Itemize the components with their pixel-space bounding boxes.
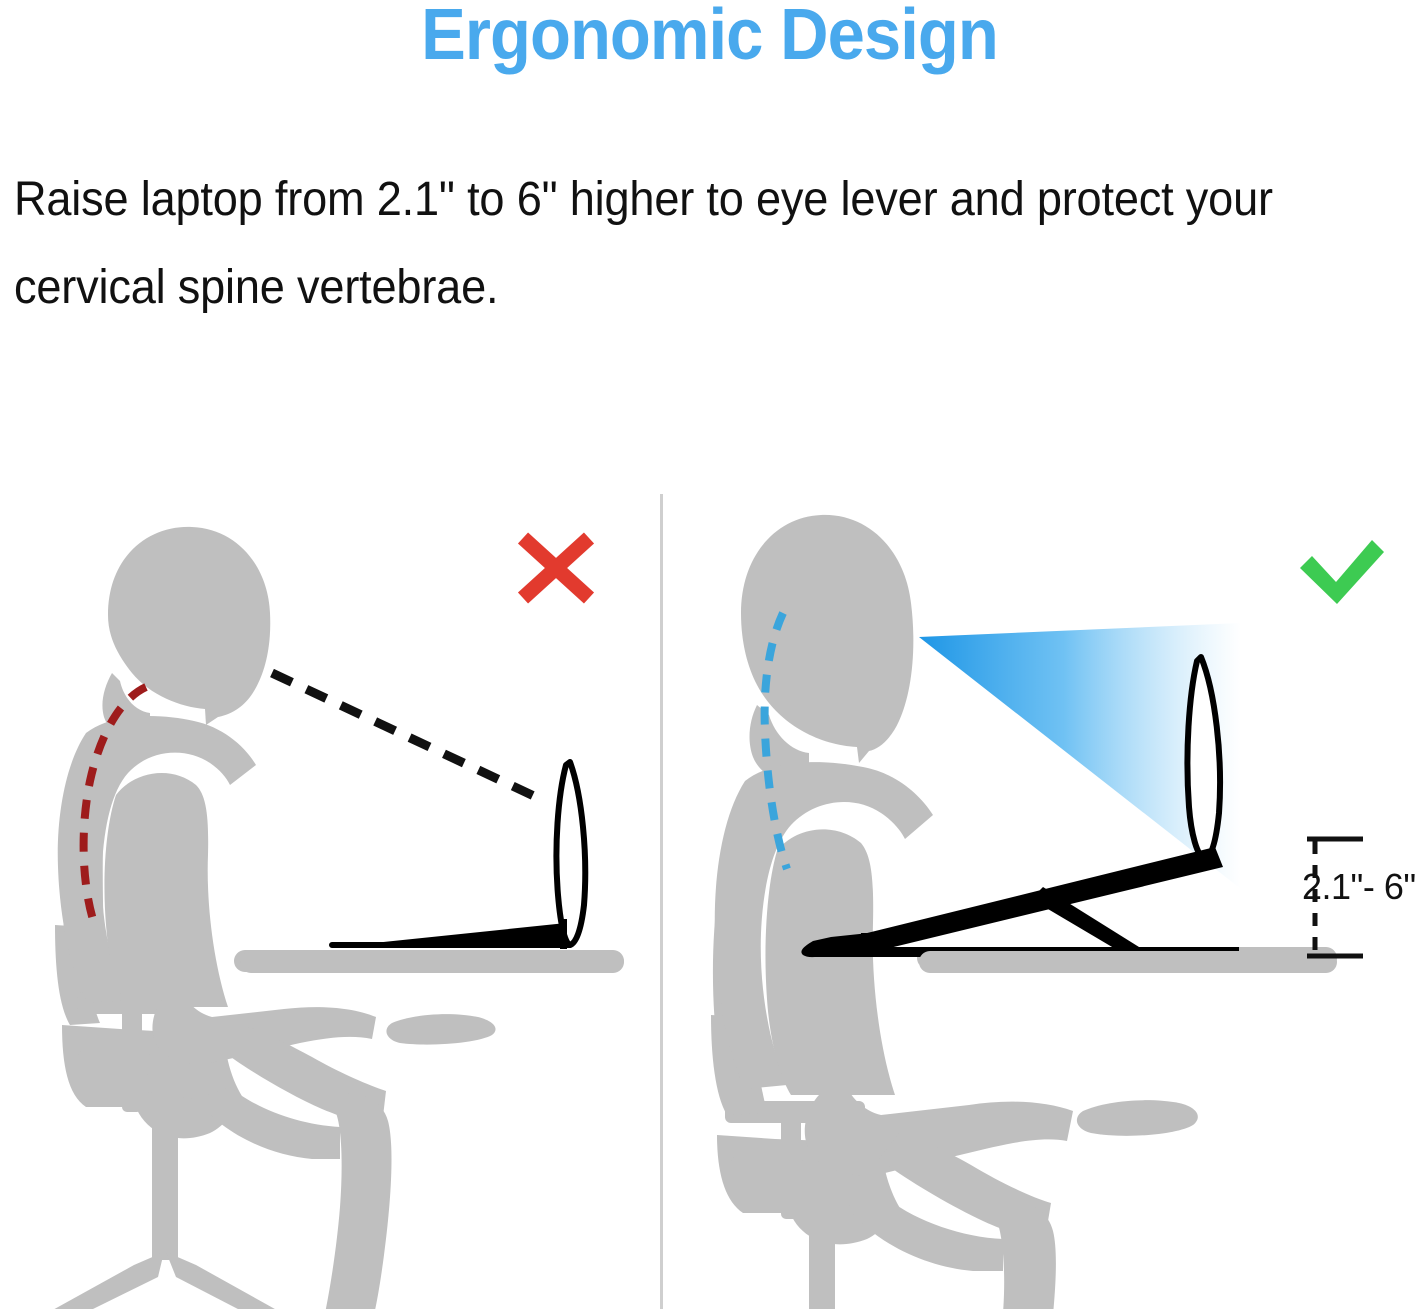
sight-line-bad [272,673,536,797]
check-icon [1292,534,1390,606]
human-figure-bad [58,527,496,1309]
cross-icon [514,531,598,605]
bad-posture-panel [0,495,660,1309]
laptop-bad [332,762,585,945]
ergonomic-design-infographic: Ergonomic Design Raise laptop from 2.1" … [0,0,1419,1309]
height-dimension-label: 2.1"- 6" [1302,866,1416,908]
page-title: Ergonomic Design [50,0,1370,75]
page-subtitle: Raise laptop from 2.1" to 6" higher to e… [14,156,1321,332]
